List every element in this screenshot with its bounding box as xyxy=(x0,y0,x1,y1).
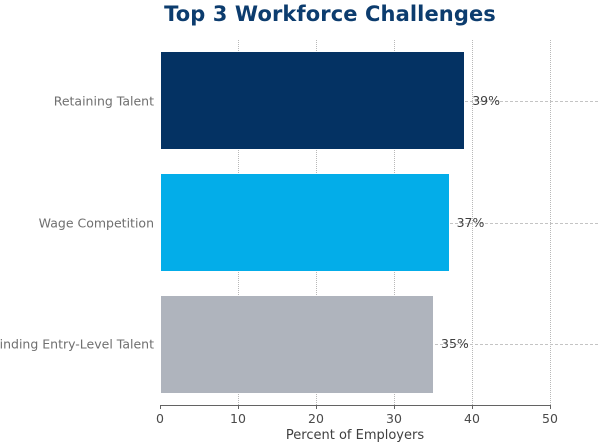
x-tick-label: 10 xyxy=(230,411,246,426)
x-axis-title: Percent of Employers xyxy=(160,428,550,443)
chart-title: Top 3 Workforce Challenges xyxy=(160,2,500,26)
x-tick-label: 20 xyxy=(308,411,324,426)
bar-1 xyxy=(160,174,449,271)
bar-0 xyxy=(160,52,464,149)
x-tick-label: 50 xyxy=(542,411,558,426)
x-tick-mark xyxy=(472,405,473,409)
plot-area: 39%37%35% xyxy=(160,40,550,405)
y-category-label: Retaining Talent xyxy=(54,93,154,108)
x-tick-mark xyxy=(160,405,161,409)
y-axis-spine xyxy=(160,40,161,405)
x-tick-mark xyxy=(550,405,551,409)
chart-figure: Top 3 Workforce Challenges 39%37%35% 010… xyxy=(0,0,600,448)
y-category-label: Wage Competition xyxy=(39,215,154,230)
x-axis-spine xyxy=(160,405,550,406)
y-category-label: Finding Entry-Level Talent xyxy=(0,337,154,352)
x-tick-mark xyxy=(394,405,395,409)
bar-value-label: 39% xyxy=(472,93,500,108)
x-tick-mark xyxy=(316,405,317,409)
bar-value-label: 35% xyxy=(441,336,469,351)
x-tick-label: 40 xyxy=(464,411,480,426)
x-tick-label: 30 xyxy=(386,411,402,426)
bar-2 xyxy=(160,296,433,393)
bar-value-label: 37% xyxy=(457,215,485,230)
x-tick-label: 0 xyxy=(156,411,164,426)
x-tick-mark xyxy=(238,405,239,409)
